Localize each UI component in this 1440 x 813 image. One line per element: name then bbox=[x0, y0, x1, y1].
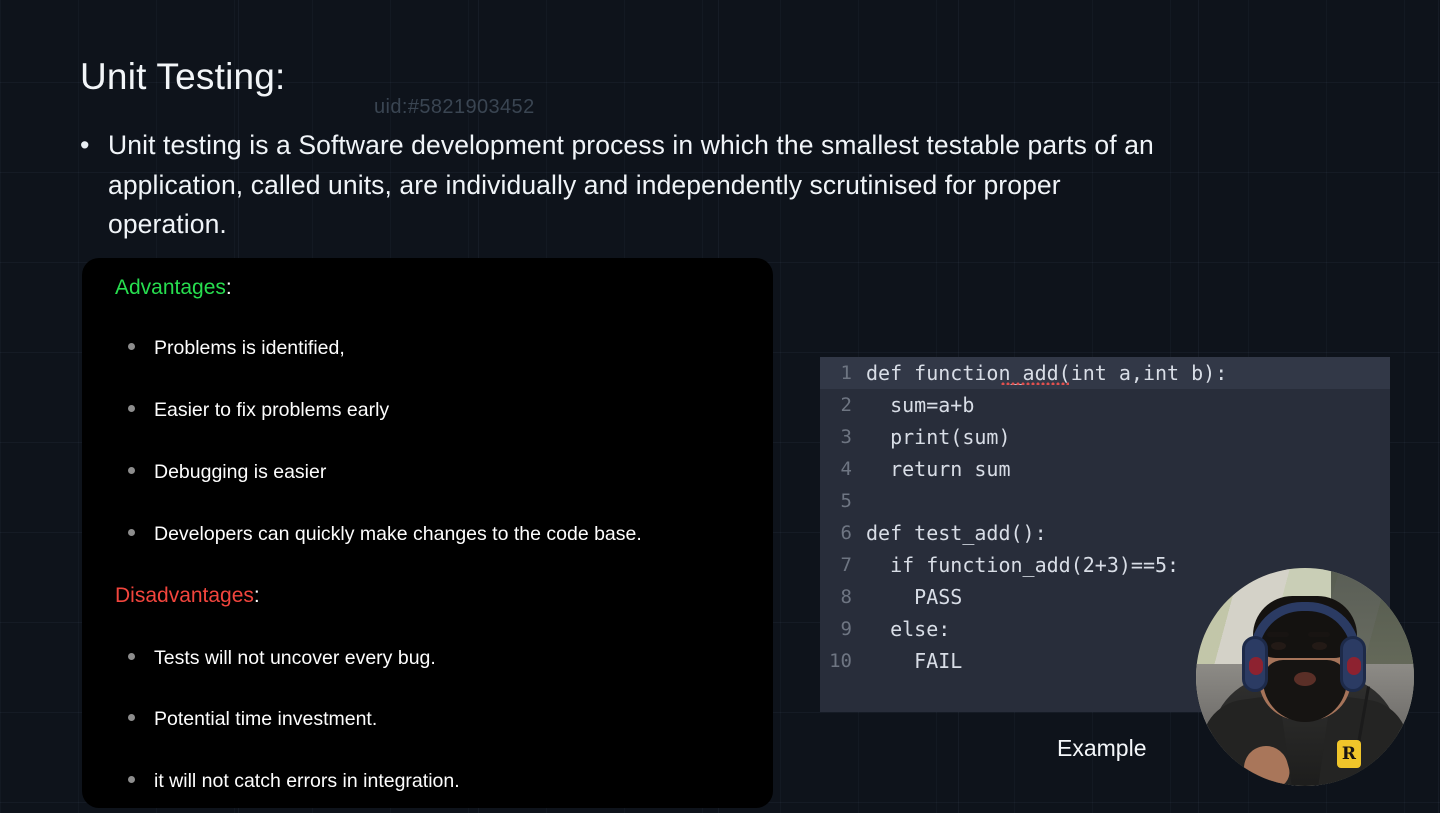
bullet-dot-icon bbox=[128, 776, 135, 783]
line-number: 6 bbox=[820, 522, 866, 544]
code-text: return sum bbox=[866, 457, 1011, 481]
line-number: 7 bbox=[820, 554, 866, 576]
line-number: 2 bbox=[820, 394, 866, 416]
line-number: 10 bbox=[820, 650, 866, 672]
code-line: 2 sum=a+b bbox=[820, 389, 1390, 421]
intro-bullet-text: Unit testing is a Software development p… bbox=[108, 126, 1170, 245]
pros-cons-panel: Advantages: Problems is identified, Easi… bbox=[82, 258, 773, 808]
code-line: 5 bbox=[820, 485, 1390, 517]
list-item-label: Potential time investment. bbox=[154, 708, 377, 730]
intro-bullet-marker: • bbox=[80, 126, 108, 245]
list-item: Easier to fix problems early bbox=[128, 399, 389, 421]
code-text: if function_add(2+3)==5: bbox=[866, 553, 1179, 577]
line-number: 9 bbox=[820, 618, 866, 640]
code-line: 1 def function_add(int a,int b): bbox=[820, 357, 1390, 389]
list-item-label: Tests will not uncover every bug. bbox=[154, 647, 436, 669]
code-line: 3 print(sum) bbox=[820, 421, 1390, 453]
list-item: Potential time investment. bbox=[128, 708, 377, 730]
code-text: FAIL bbox=[866, 649, 962, 673]
disadvantages-heading-colon: : bbox=[254, 584, 260, 607]
list-item-label: Debugging is easier bbox=[154, 461, 326, 483]
list-item: Developers can quickly make changes to t… bbox=[128, 523, 642, 545]
code-line: 6 def test_add(): bbox=[820, 517, 1390, 549]
list-item-label: Problems is identified, bbox=[154, 337, 345, 359]
line-number: 4 bbox=[820, 458, 866, 480]
list-item-label: Developers can quickly make changes to t… bbox=[154, 523, 642, 545]
line-number: 5 bbox=[820, 490, 866, 512]
example-caption: Example bbox=[1057, 735, 1146, 762]
line-number: 1 bbox=[820, 362, 866, 384]
bullet-dot-icon bbox=[128, 343, 135, 350]
intro-bullet: • Unit testing is a Software development… bbox=[80, 126, 1170, 245]
presenter-webcam: R bbox=[1196, 568, 1414, 786]
code-text: sum=a+b bbox=[866, 393, 974, 417]
headphone-earcup-left-icon bbox=[1242, 636, 1268, 692]
bullet-dot-icon bbox=[128, 405, 135, 412]
advantages-heading-colon: : bbox=[226, 276, 232, 299]
error-squiggle-icon bbox=[1001, 381, 1069, 385]
code-text: else: bbox=[866, 617, 950, 641]
advantages-heading: Advantages: bbox=[115, 276, 232, 300]
list-item: Problems is identified, bbox=[128, 337, 345, 359]
list-item-label: it will not catch errors in integration. bbox=[154, 770, 460, 792]
bullet-dot-icon bbox=[128, 529, 135, 536]
bullet-dot-icon bbox=[128, 714, 135, 721]
uid-watermark: uid:#5821903452 bbox=[374, 96, 535, 119]
code-line: 4 return sum bbox=[820, 453, 1390, 485]
code-text: print(sum) bbox=[866, 425, 1011, 449]
line-number: 8 bbox=[820, 586, 866, 608]
code-text: def test_add(): bbox=[866, 521, 1047, 545]
headphone-earcup-right-icon bbox=[1340, 636, 1366, 692]
list-item-label: Easier to fix problems early bbox=[154, 399, 389, 421]
presenter-mouth bbox=[1294, 672, 1316, 686]
bullet-dot-icon bbox=[128, 467, 135, 474]
disadvantages-heading-word: Disadvantages bbox=[115, 584, 254, 607]
line-number: 3 bbox=[820, 426, 866, 448]
list-item: Tests will not uncover every bug. bbox=[128, 647, 436, 669]
advantages-heading-word: Advantages bbox=[115, 276, 226, 299]
list-item: it will not catch errors in integration. bbox=[128, 770, 460, 792]
page-title: Unit Testing: bbox=[80, 56, 286, 98]
bullet-dot-icon bbox=[128, 653, 135, 660]
list-item: Debugging is easier bbox=[128, 461, 326, 483]
code-text: PASS bbox=[866, 585, 962, 609]
jacket-logo-icon: R bbox=[1337, 740, 1361, 768]
disadvantages-heading: Disadvantages: bbox=[115, 584, 260, 608]
slide-canvas: Unit Testing: uid:#5821903452 • Unit tes… bbox=[0, 0, 1440, 813]
